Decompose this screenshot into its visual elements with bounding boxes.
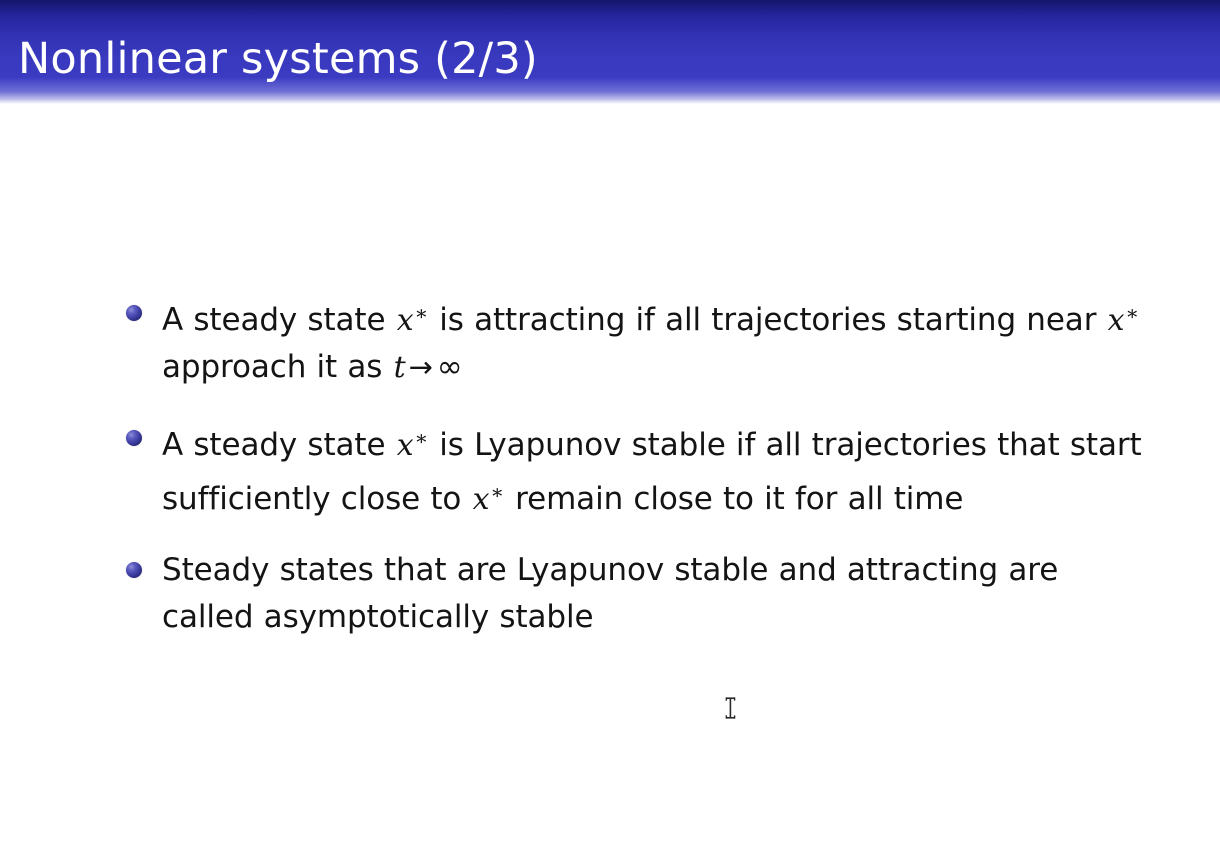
right-arrow-icon: → [407, 350, 435, 384]
list-item: A steady state x∗ is attracting if all t… [126, 290, 1146, 391]
list-item-text: Steady states that are Lyapunov stable a… [162, 547, 1146, 641]
bullet-sphere-icon [126, 562, 142, 578]
page-title: Nonlinear systems (2/3) [18, 34, 538, 84]
list-item-text: A steady state x∗ is attracting if all t… [162, 290, 1146, 391]
bullet-2-variable-x-2: x [472, 482, 491, 517]
list-item-text: A steady state x∗ is Lyapunov stable if … [162, 415, 1146, 523]
infinity-icon: ∞ [435, 349, 463, 385]
list-item: Steady states that are Lyapunov stable a… [126, 547, 1146, 641]
bullet-1-text-after: approach it as [162, 349, 393, 385]
bullet-1-star-2: ∗ [1125, 301, 1140, 325]
bullet-2-text-lead: A steady state [162, 427, 396, 463]
bullet-sphere-icon [126, 305, 142, 321]
slide-title-banner: Nonlinear systems (2/3) [0, 0, 1220, 104]
bullet-2-text-after: remain close to it for all time [505, 481, 964, 517]
list-item: A steady state x∗ is Lyapunov stable if … [126, 415, 1146, 523]
bullet-2-star-1: ∗ [415, 426, 430, 450]
bullet-2-variable-x: x [396, 428, 415, 463]
bullet-1-text-mid: is attracting if all trajectories starti… [429, 302, 1107, 338]
bullet-list: A steady state x∗ is attracting if all t… [126, 290, 1146, 641]
bullet-1-text-lead: A steady state [162, 302, 396, 338]
bullet-1-variable-x: x [396, 303, 415, 338]
bullet-sphere-icon [126, 430, 142, 446]
text-ibeam-cursor [724, 696, 737, 720]
bullet-1-variable-x-2: x [1107, 303, 1126, 338]
slide-content-area: A steady state x∗ is attracting if all t… [0, 104, 1220, 866]
bullet-2-star-2: ∗ [490, 480, 505, 504]
bullet-1-variable-t: t [393, 350, 407, 385]
bullet-1-star-1: ∗ [415, 301, 430, 325]
